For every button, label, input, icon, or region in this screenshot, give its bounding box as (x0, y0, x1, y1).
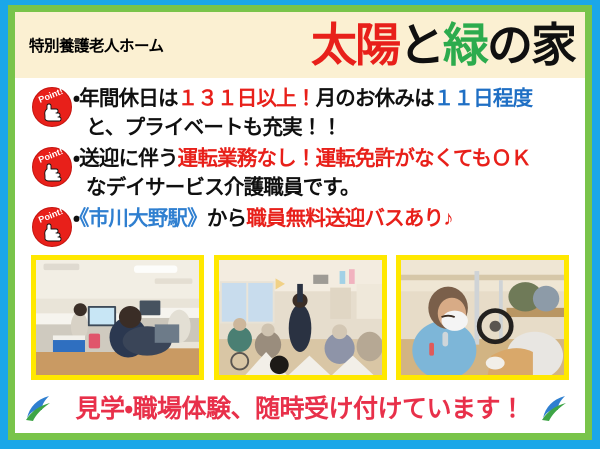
point-seg-highlight: １３１日以上！ (178, 87, 316, 110)
photo-caregiver-assisting (396, 255, 569, 380)
facility-name-part-1: 太陽 (311, 19, 399, 71)
footer-banner: 見学・職場体験、随時受け付けています！ (15, 384, 585, 433)
point-line: と、プライベートも充実！！ (73, 113, 579, 142)
point-line: なデイサービス介護職員です。 (73, 173, 579, 202)
point-seg: と、プライベートも充実！！ (86, 116, 341, 139)
facility-type-label: 特別養護老人ホーム (29, 34, 164, 56)
facility-name-part-4: の家 (487, 19, 575, 71)
poster-header: 特別養護老人ホーム 太陽と緑の家 (15, 12, 585, 78)
point-seg-highlight: 運転業務なし！運転免許がなくてもＯＫ (178, 147, 531, 170)
point-seg: 月のお休みは (316, 87, 434, 110)
point-item: Point! ・年間休日は１３１日以上！月のお休みは１１日程度 と、プライベート… (15, 83, 585, 142)
poster-outer-frame: 特別養護老人ホーム 太陽と緑の家 Point! (0, 0, 600, 449)
facility-name-part-3: 緑 (443, 19, 487, 71)
point-line: ・送迎に伴う運転業務なし！運転免許がなくてもＯＫ (73, 144, 579, 173)
point-item: Point! ・送迎に伴う運転業務なし！運転免許がなくてもＯＫ なデイサービス介… (15, 143, 585, 202)
point-item: Point! ・《市川大野駅》から職員無料送迎バスあり♪ (15, 203, 585, 248)
point-seg: なデイサービス介護職員です。 (86, 176, 360, 199)
footer-message: 見学・職場体験、随時受け付けています！ (75, 389, 524, 425)
point-badge-icon: Point! (31, 86, 73, 128)
poster-green-frame: 特別養護老人ホーム 太陽と緑の家 Point! (8, 5, 592, 440)
photo-day-service-exercise (214, 255, 387, 380)
point-text: ・送迎に伴う運転業務なし！運転免許がなくてもＯＫ なデイサービス介護職員です。 (73, 143, 579, 202)
poster-content: 特別養護老人ホーム 太陽と緑の家 Point! (15, 12, 585, 433)
photo-office-workspace (31, 255, 204, 380)
point-seg-highlight: 職員無料送迎バスあり♪ (246, 207, 452, 230)
point-seg-highlight: １１日程度 (434, 87, 533, 110)
point-line: ・《市川大野駅》から職員無料送迎バスあり♪ (73, 204, 579, 233)
point-seg: から (207, 207, 246, 230)
point-seg-highlight: 《市川大野駅》 (79, 207, 207, 230)
facility-name-title: 太陽と緑の家 (164, 22, 581, 68)
leaf-icon (23, 391, 61, 423)
photo-gallery (15, 249, 585, 384)
point-badge-icon: Point! (31, 146, 73, 188)
point-text: ・《市川大野駅》から職員無料送迎バスあり♪ (73, 203, 579, 233)
point-badge-icon: Point! (31, 206, 73, 248)
point-seg: ・送迎に伴う (73, 147, 178, 170)
facility-name-part-2: と (399, 19, 443, 71)
point-text: ・年間休日は１３１日以上！月のお休みは１１日程度 と、プライベートも充実！！ (73, 83, 579, 142)
leaf-icon (539, 391, 577, 423)
point-list: Point! ・年間休日は１３１日以上！月のお休みは１１日程度 と、プライベート… (15, 78, 585, 249)
point-line: ・年間休日は１３１日以上！月のお休みは１１日程度 (73, 84, 579, 113)
point-seg: ・年間休日は (73, 87, 178, 110)
